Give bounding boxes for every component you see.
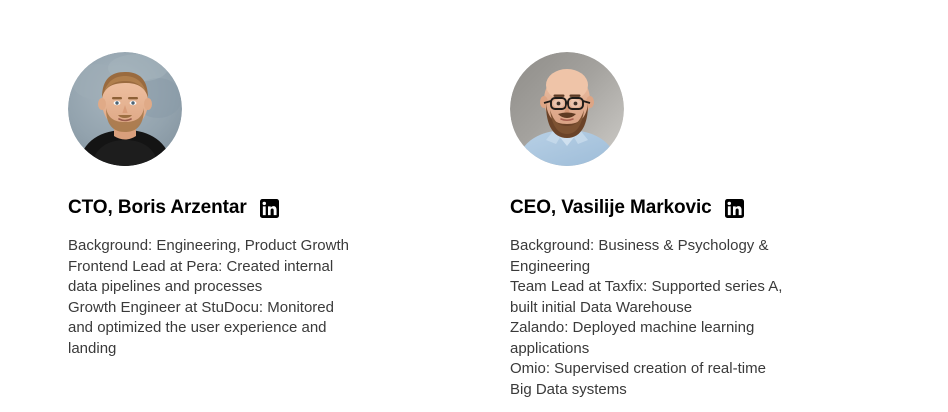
bio-line: and optimized the user experience and	[68, 318, 418, 339]
bio-line: Omio: Supervised creation of real-time	[510, 359, 860, 380]
profile-bio-ceo: Background: Business & Psychology & Engi…	[510, 236, 860, 400]
profile-bio-cto: Background: Engineering, Product Growth …	[68, 236, 418, 359]
avatar-vasilije-markovic	[510, 52, 624, 166]
profile-name-cto: CTO, Boris Arzentar	[68, 196, 247, 220]
avatar-boris-arzentar	[68, 52, 182, 166]
avatar	[68, 52, 182, 166]
avatar	[510, 52, 624, 166]
bio-line: data pipelines and processes	[68, 277, 418, 298]
bio-line: Frontend Lead at Pera: Created internal	[68, 257, 418, 278]
profile-headline-ceo: CEO, Vasilije Markovic	[510, 196, 744, 220]
bio-line: Team Lead at Taxfix: Supported series A,	[510, 277, 860, 298]
bio-line: Engineering	[510, 257, 860, 278]
bio-line: Big Data systems	[510, 380, 860, 401]
bio-line: applications	[510, 339, 860, 360]
bio-line: Zalando: Deployed machine learning	[510, 318, 860, 339]
profile-name-ceo: CEO, Vasilije Markovic	[510, 196, 712, 220]
linkedin-icon[interactable]	[725, 199, 744, 218]
bio-line: Growth Engineer at StuDocu: Monitored	[68, 298, 418, 319]
bio-line: Background: Business & Psychology &	[510, 236, 860, 257]
bio-line: Background: Engineering, Product Growth	[68, 236, 418, 257]
linkedin-icon[interactable]	[260, 199, 279, 218]
bio-line: landing	[68, 339, 418, 360]
profile-headline-cto: CTO, Boris Arzentar	[68, 196, 279, 220]
bio-line: built initial Data Warehouse	[510, 298, 860, 319]
team-profiles-slide: CTO, Boris Arzentar Background: Engineer…	[0, 0, 948, 412]
